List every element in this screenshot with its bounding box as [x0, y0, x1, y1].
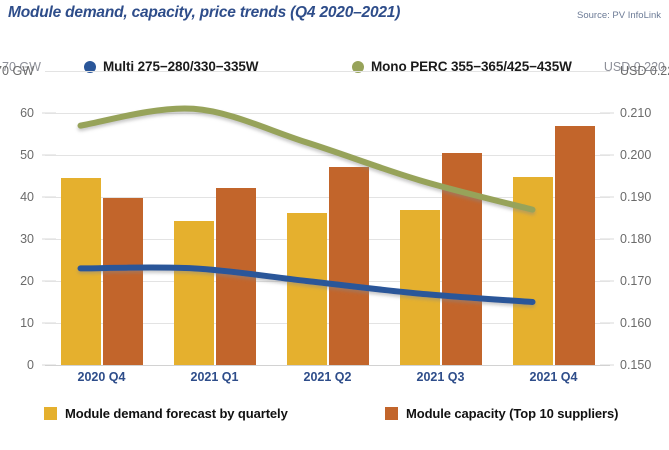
- x-axis-labels: 2020 Q42021 Q12021 Q22021 Q32021 Q4: [45, 370, 610, 392]
- line-multi-price: [81, 267, 533, 302]
- line-mono-perc-price: [81, 108, 533, 209]
- y2-axis-tick-label: 0.160: [620, 316, 651, 330]
- y-axis-tick-label: 40: [20, 190, 34, 204]
- x-axis-tick-label: 2021 Q1: [191, 370, 239, 384]
- line-series-layer: [45, 71, 610, 365]
- bottom-legend: Module demand forecast by quartely Modul…: [0, 406, 669, 434]
- y-axis-tick-label: 60: [20, 106, 34, 120]
- legend-square-icon: [44, 407, 57, 420]
- legend-item-label: Module demand forecast by quartely: [65, 406, 288, 421]
- y2-axis-tick-label: 0.180: [620, 232, 651, 246]
- plot-area: [45, 71, 610, 365]
- page-title: Module demand, capacity, price trends (Q…: [8, 4, 400, 22]
- y-axis-tick-label: 0: [27, 358, 34, 372]
- y-axis-tick-label: 30: [20, 232, 34, 246]
- y2-axis-tick-label: 0.190: [620, 190, 651, 204]
- chart-page: Module demand, capacity, price trends (Q…: [0, 0, 669, 450]
- x-axis-tick-label: 2021 Q3: [417, 370, 465, 384]
- legend-item-module-capacity[interactable]: Module capacity (Top 10 suppliers): [385, 406, 618, 421]
- legend-item-module-demand[interactable]: Module demand forecast by quartely: [44, 406, 288, 421]
- gridline: [45, 365, 610, 366]
- y-axis-tick-label: 10: [20, 316, 34, 330]
- y-axis-left: 010203040506070 GW: [0, 71, 42, 365]
- y2-axis-tick-label: 0.200: [620, 148, 651, 162]
- y-axis-tick-label: 20: [20, 274, 34, 288]
- x-axis-tick-label: 2021 Q4: [530, 370, 578, 384]
- y2-axis-tick-label: 0.210: [620, 106, 651, 120]
- y-axis-right: 0.1500.1600.1700.1800.1900.2000.210USD 0…: [614, 71, 669, 365]
- y-axis-tick-label: 70 GW: [0, 64, 34, 78]
- y-axis-tick-label: 50: [20, 148, 34, 162]
- y2-axis-tick-label: 0.170: [620, 274, 651, 288]
- y2-axis-tick-label: USD 0.220: [620, 64, 669, 78]
- y2-axis-tick-label: 0.150: [620, 358, 651, 372]
- source-attribution: Source: PV InfoLink: [577, 10, 661, 21]
- legend-item-label: Module capacity (Top 10 suppliers): [406, 406, 618, 421]
- x-axis-tick-label: 2021 Q2: [304, 370, 352, 384]
- legend-square-icon: [385, 407, 398, 420]
- x-axis-tick-label: 2020 Q4: [78, 370, 126, 384]
